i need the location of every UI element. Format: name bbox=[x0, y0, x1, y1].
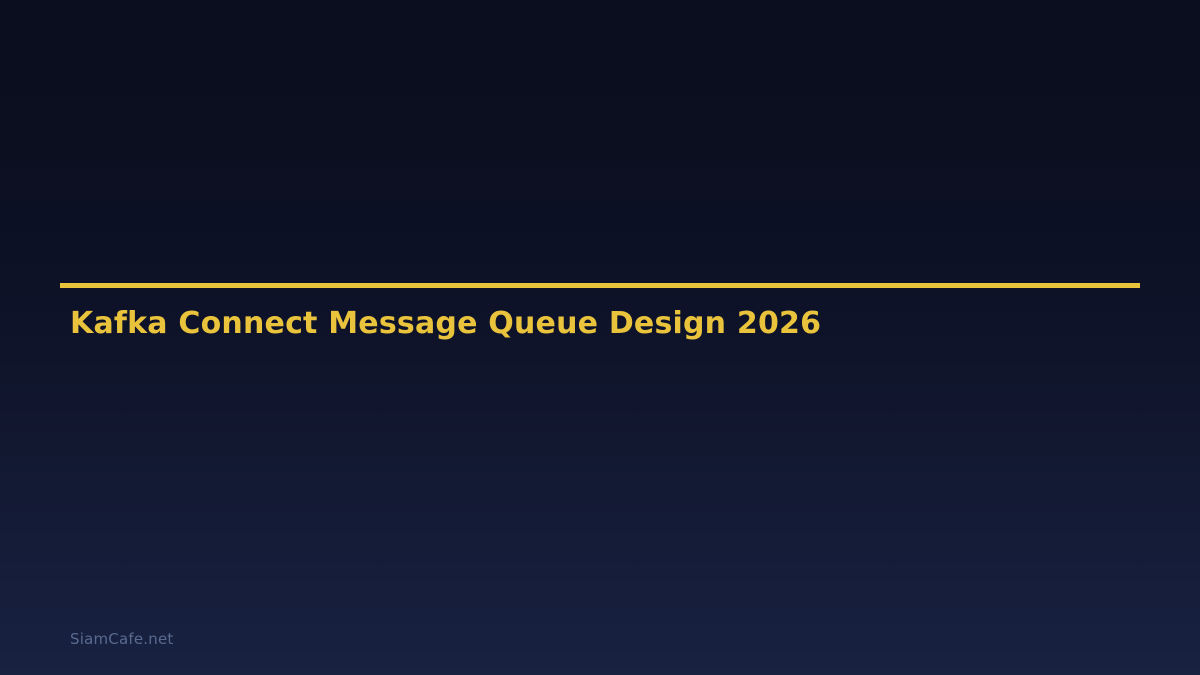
presentation-slide: Kafka Connect Message Queue Design 2026 … bbox=[0, 0, 1200, 675]
page-title: Kafka Connect Message Queue Design 2026 bbox=[70, 306, 821, 342]
title-block: Kafka Connect Message Queue Design 2026 bbox=[60, 283, 1140, 288]
footer-brand-label: SiamCafe.net bbox=[70, 630, 173, 649]
accent-rule bbox=[60, 283, 1140, 288]
